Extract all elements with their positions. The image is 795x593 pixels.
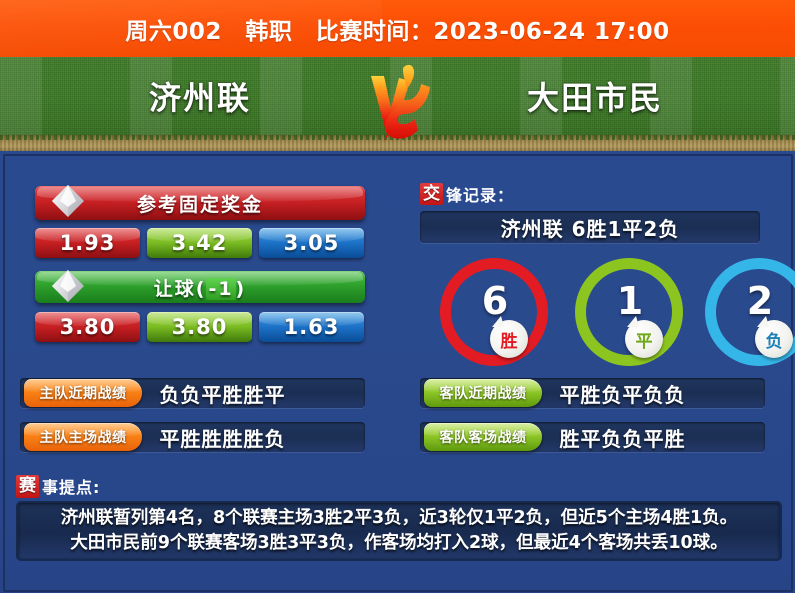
handicap-odds-draw[interactable]: 3.80	[147, 312, 252, 342]
header-title: 周六002 韩职 比赛时间：2023-06-24 17:00	[0, 0, 795, 57]
handicap-title-prefix: 让球(	[154, 278, 207, 300]
fixed-odds-title-bar: 参考固定奖金	[35, 186, 365, 220]
fixed-odds-win[interactable]: 1.93	[35, 228, 140, 258]
fixed-odds-draw-value: 3.42	[172, 231, 228, 255]
home-recent-form-tag-label: 主队近期战绩	[40, 383, 127, 403]
fixed-odds-lose[interactable]: 3.05	[259, 228, 364, 258]
fixed-odds-lose-value: 3.05	[284, 231, 340, 255]
h2h-badge-char: 交	[420, 183, 443, 205]
home-home-form-tag-label: 主队主场战绩	[40, 427, 127, 447]
h2h-ring-draw: 1 平	[575, 258, 667, 358]
tips-box: 济州联暂列第4名，8个联赛主场3胜2平3负，近3轮仅1平2负，但近5个主场4胜1…	[16, 501, 782, 561]
h2h-ring-win-label: 胜	[490, 320, 528, 358]
h2h-ring-draw-label: 平	[625, 320, 663, 358]
tips-line-2: 大田市民前9个联赛客场3胜3平3负，作客场均打入2球，但最近4个客场共丢10球。	[70, 531, 727, 556]
away-recent-form-tag-label: 客队近期战绩	[440, 383, 527, 403]
h2h-header: 交 锋记录：	[420, 182, 514, 206]
header-bar: 周六002 韩职 比赛时间：2023-06-24 17:00	[0, 0, 795, 57]
tips-badge-char: 赛	[16, 475, 39, 498]
handicap-title-bar: 让球(-1)	[35, 271, 365, 303]
h2h-ring-win: 6 胜	[440, 258, 532, 358]
h2h-summary-text: 济州联 6胜1平2负	[501, 213, 680, 242]
h2h-ring-lose: 2 负	[705, 258, 795, 358]
handicap-value: -1	[206, 278, 235, 300]
away-away-form-tag-label: 客队客场战绩	[440, 427, 527, 447]
h2h-ring-lose-label: 负	[755, 320, 793, 358]
match-preview-page: 周六002 韩职 比赛时间：2023-06-24 17:00 济州联 大田市民	[0, 0, 795, 593]
diamond-gem-icon	[47, 180, 89, 222]
fixed-odds-draw[interactable]: 3.42	[147, 228, 252, 258]
home-home-form-tag: 主队主场战绩	[24, 423, 142, 451]
away-team-name: 大田市民	[445, 68, 745, 124]
handicap-odds-lose-value: 1.63	[284, 315, 340, 339]
h2h-header-label: 锋记录：	[446, 182, 514, 206]
home-team-name: 济州联	[50, 68, 350, 124]
away-away-form-tag: 客队客场战绩	[424, 423, 542, 451]
fixed-odds-win-value: 1.93	[60, 231, 116, 255]
tips-header: 赛 事提点:	[16, 474, 100, 498]
tips-header-label: 事提点:	[42, 474, 100, 498]
handicap-odds-win[interactable]: 3.80	[35, 312, 140, 342]
handicap-odds-draw-value: 3.80	[172, 315, 228, 339]
fixed-odds-title-label: 参考固定奖金	[137, 190, 263, 217]
vs-flame-icon	[358, 56, 440, 144]
handicap-odds-lose[interactable]: 1.63	[259, 312, 364, 342]
away-recent-form-tag: 客队近期战绩	[424, 379, 542, 407]
handicap-title-label: 让球(-1)	[154, 274, 246, 301]
handicap-odds-win-value: 3.80	[60, 315, 116, 339]
tips-line-1: 济州联暂列第4名，8个联赛主场3胜2平3负，近3轮仅1平2负，但近5个主场4胜1…	[61, 506, 737, 531]
h2h-summary-plate: 济州联 6胜1平2负	[420, 211, 760, 243]
home-recent-form-tag: 主队近期战绩	[24, 379, 142, 407]
handicap-title-suffix: )	[236, 278, 247, 300]
diamond-gem-icon	[47, 265, 89, 307]
